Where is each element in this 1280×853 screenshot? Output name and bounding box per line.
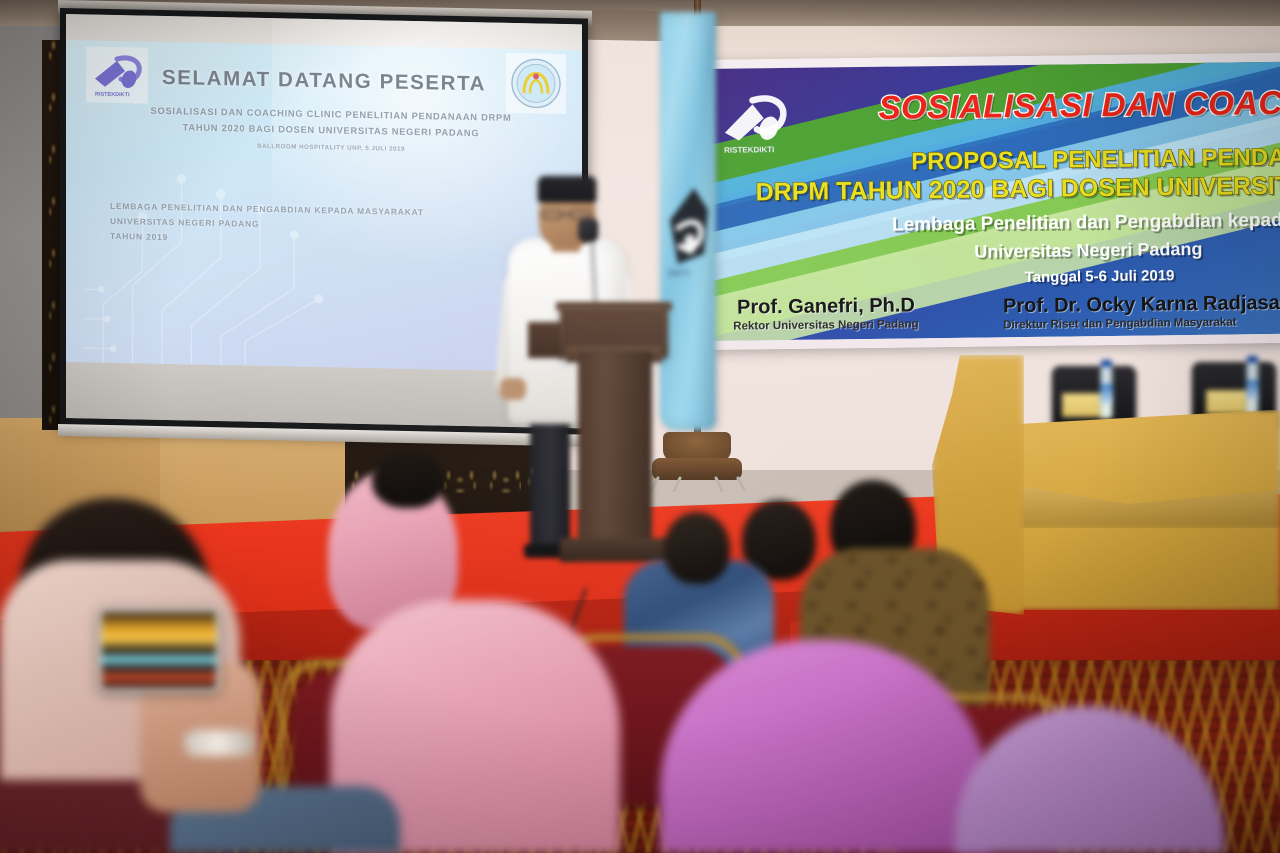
slide-subtitle: SOSIALISASI DAN COACHING CLINIC PENELITI… <box>108 103 554 160</box>
banner-line2: PROPOSAL PENELITIAN PENDANAAN <box>911 142 1280 176</box>
speaker-left-hand <box>500 378 526 400</box>
flag-emblem-icon: DIKTI <box>664 168 716 298</box>
microphone-icon <box>578 218 598 242</box>
slide-organizer: LEMBAGA PENELITIAN DAN PENGABDIAN KEPADA… <box>110 199 562 253</box>
event-banner: RISTEKDIKTI SOSIALISASI DAN COACHING CLI… <box>700 53 1280 350</box>
water-bottle-2 <box>1246 362 1259 414</box>
ristekdikti-logo-icon: RISTEKDIKTI <box>86 46 148 103</box>
banner-date: Tanggal 5-6 Juli 2019 <box>1025 265 1280 286</box>
svg-text:DIKTI: DIKTI <box>668 269 689 278</box>
banner-speaker2-name: Prof. Dr. Ocky Karna Radjasa, M.Sc <box>1003 291 1280 318</box>
water-bottle-1 <box>1100 366 1113 418</box>
peci-cap <box>538 176 596 202</box>
phone-screen-preview <box>102 612 216 688</box>
svg-text:RISTEKDIKTI: RISTEKDIKTI <box>95 92 130 98</box>
podium-column <box>578 352 652 552</box>
banner-ristekdikti-logo-icon: RISTEKDIKTI <box>718 90 791 159</box>
flag-stand-feet <box>650 476 746 492</box>
banner-title: SOSIALISASI DAN COACHING CLINIC <box>878 83 1280 126</box>
eyeglasses-icon <box>540 206 594 215</box>
podium-side-wing <box>528 322 564 358</box>
slide-title: SELAMAT DATANG PESERTA <box>162 66 496 97</box>
audience-head-mid-dark <box>372 450 444 508</box>
seminar-photo-scene: RISTEKDIKTI SELAMAT DATANG PESERTA SOSIA… <box>0 0 1280 853</box>
banner-speaker1-name: Prof. Ganefri, Ph.D <box>737 294 915 319</box>
circuit-decoration <box>66 137 376 369</box>
podium-base <box>560 538 672 562</box>
banner-speaker1-role: Rektor Universitas Negeri Padang <box>733 318 918 332</box>
unp-seal-logo-icon <box>506 53 566 114</box>
smartphone-camera[interactable] <box>98 608 220 692</box>
banner-speaker2-role: Direktur Riset dan Pengabdian Masyarakat <box>1003 316 1236 331</box>
wrist-bracelet <box>184 730 254 756</box>
audience-head-far-2 <box>664 512 730 584</box>
banner-line5: Universitas Negeri Padang <box>974 236 1280 262</box>
banner-face: RISTEKDIKTI SOSIALISASI DAN COACHING CLI… <box>700 62 1280 341</box>
svg-text:RISTEKDIKTI: RISTEKDIKTI <box>724 145 774 155</box>
